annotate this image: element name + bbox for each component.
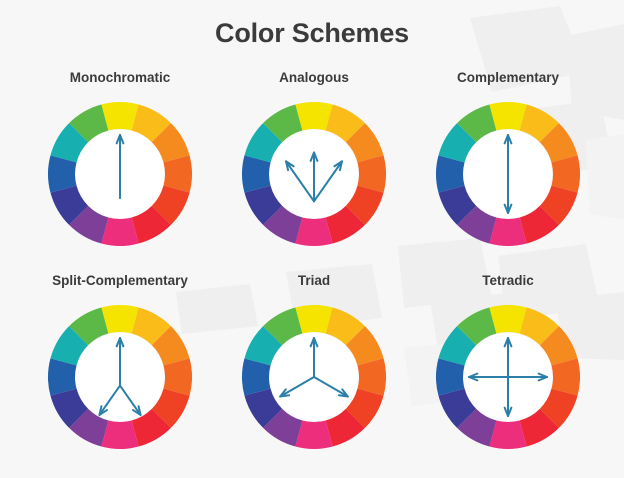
scheme-card-complementary[interactable]: Complementary (404, 68, 612, 268)
color-wheel-triad[interactable] (210, 291, 418, 463)
scheme-card-split-complementary[interactable]: Split-Complementary (16, 271, 224, 471)
color-wheel-svg (228, 88, 400, 260)
scheme-card-triad[interactable]: Triad (210, 271, 418, 471)
color-wheel-split-complementary[interactable] (16, 291, 224, 463)
color-wheel-svg (422, 88, 594, 260)
scheme-card-analogous[interactable]: Analogous (210, 68, 418, 268)
scheme-card-tetradic[interactable]: Tetradic (404, 271, 612, 471)
color-wheel-complementary[interactable] (404, 88, 612, 260)
scheme-label: Monochromatic (16, 68, 224, 88)
scheme-grid: Monochromatic Analogous Complementary Sp… (0, 68, 624, 478)
color-wheel-svg (422, 291, 594, 463)
scheme-label: Triad (210, 271, 418, 291)
page-title: Color Schemes (0, 18, 624, 49)
color-wheel-svg (34, 88, 206, 260)
color-wheel-svg (34, 291, 206, 463)
scheme-card-monochromatic[interactable]: Monochromatic (16, 68, 224, 268)
scheme-label: Split-Complementary (16, 271, 224, 291)
color-wheel-monochromatic[interactable] (16, 88, 224, 260)
infographic-page: Color Schemes Monochromatic Analogous Co… (0, 0, 624, 478)
scheme-label: Tetradic (404, 271, 612, 291)
color-wheel-svg (228, 291, 400, 463)
color-wheel-tetradic[interactable] (404, 291, 612, 463)
scheme-label: Analogous (210, 68, 418, 88)
color-wheel-analogous[interactable] (210, 88, 418, 260)
scheme-label: Complementary (404, 68, 612, 88)
